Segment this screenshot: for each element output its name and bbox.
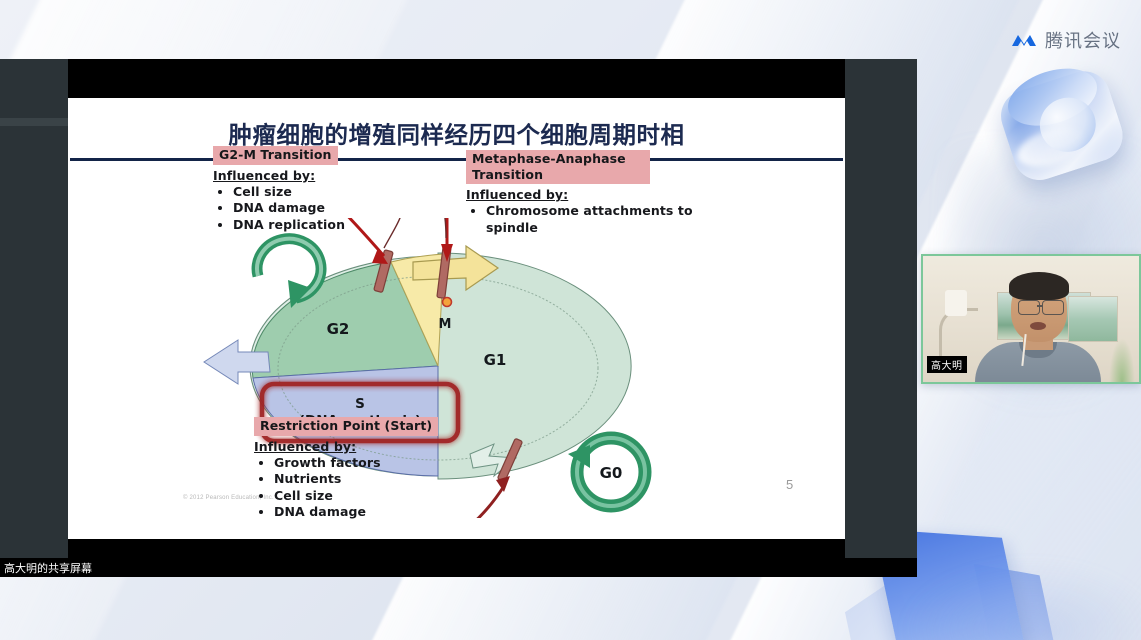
tencent-meeting-logo: 腾讯会议	[1010, 27, 1121, 53]
svg-text:G2: G2	[327, 320, 350, 338]
video-person-glasses	[1018, 300, 1040, 315]
callout-heading: Restriction Point (Start)	[254, 417, 438, 436]
callout-heading: G2-M Transition	[213, 146, 338, 165]
callout-bullet: DNA replication	[233, 217, 413, 234]
callout-metaphase-anaphase-transition: Metaphase-Anaphase Transition Influenced…	[466, 150, 726, 236]
callout-bullet: Nutrients	[274, 471, 514, 488]
brand-name: 腾讯会议	[1045, 27, 1121, 53]
slide-page-number: 5	[786, 477, 793, 492]
callout-bullet-list: Growth factors Nutrients Cell size DNA d…	[254, 455, 514, 521]
svg-text:M: M	[439, 317, 452, 332]
tencent-meeting-mountain-icon	[1010, 30, 1038, 50]
callout-bullet-list: Cell size DNA damage DNA replication	[213, 184, 413, 234]
callout-bullet: Chromosome attachments to spindle	[486, 203, 726, 236]
video-plant	[1109, 338, 1135, 382]
callout-bullet: Cell size	[233, 184, 413, 201]
slide-content: 肿瘤细胞的增殖同样经历四个细胞周期时相	[68, 98, 845, 539]
callout-restriction-point: Restriction Point (Start) Influenced by:…	[254, 415, 514, 521]
video-person-glasses-bridge	[1037, 305, 1043, 307]
video-lamp-shade	[945, 290, 967, 316]
presentation-stage: 肿瘤细胞的增殖同样经历四个细胞周期时相	[68, 59, 845, 577]
svg-text:S: S	[355, 396, 365, 412]
callout-g2m-transition: G2-M Transition Influenced by: Cell size…	[213, 144, 413, 233]
participant-video-tile[interactable]: 高大明	[921, 254, 1141, 384]
callout-bullet: DNA damage	[274, 504, 514, 521]
svg-text:G1: G1	[484, 351, 507, 369]
callout-bullet: Growth factors	[274, 455, 514, 472]
callout-bullet-list: Chromosome attachments to spindle	[466, 203, 726, 236]
video-wall-picture	[1068, 296, 1118, 342]
video-person-glasses	[1042, 300, 1064, 315]
callout-subheading: Influenced by:	[254, 439, 514, 454]
shared-screen-window[interactable]: 肿瘤细胞的增殖同样经历四个细胞周期时相	[0, 59, 917, 577]
share-status-text: 高大明的共享屏幕	[4, 560, 92, 576]
g0-ring: G0	[568, 438, 645, 506]
wallpaper-glow	[900, 560, 1141, 640]
slide-title: 肿瘤细胞的增殖同样经历四个细胞周期时相	[68, 116, 845, 150]
callout-bullet: DNA damage	[233, 200, 413, 217]
video-person-mouth	[1030, 322, 1046, 330]
callout-subheading: Influenced by:	[466, 187, 726, 202]
slide-copyright: © 2012 Pearson Education, Inc.	[183, 495, 274, 501]
participant-name-label: 高大明	[927, 356, 967, 373]
window-tab-nub	[0, 118, 68, 126]
svg-text:G0: G0	[600, 464, 623, 482]
video-person-hair	[1009, 272, 1069, 300]
callout-heading: Metaphase-Anaphase Transition	[466, 150, 650, 184]
callout-subheading: Influenced by:	[213, 168, 413, 183]
title-divider	[70, 158, 843, 161]
callout-bullet: Cell size	[274, 488, 514, 505]
share-status-bar: 高大明的共享屏幕	[0, 558, 917, 577]
